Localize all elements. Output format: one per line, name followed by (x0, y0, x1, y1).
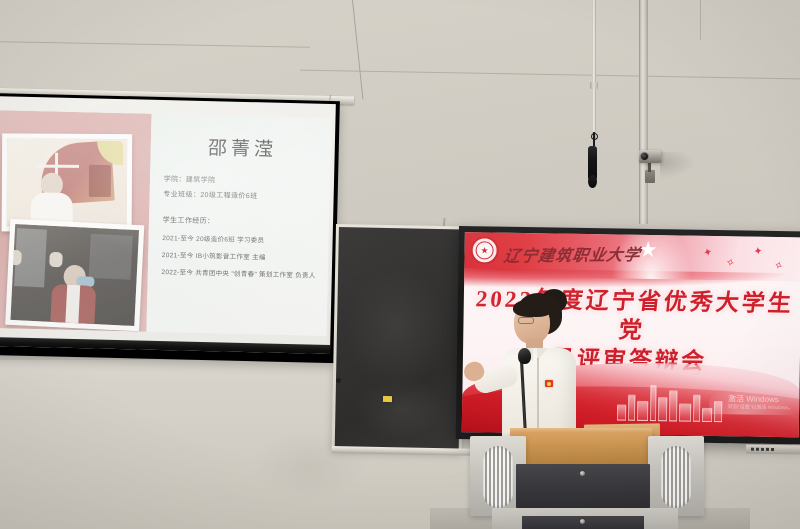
lectern-lock-icon[interactable] (580, 471, 585, 476)
skyline-building (714, 401, 722, 422)
skyline-building (658, 397, 667, 421)
bird-icon-4: ✧ (772, 260, 785, 274)
skyline-building (693, 395, 700, 422)
led-control-button[interactable] (756, 448, 759, 451)
presenter-glasses (518, 317, 534, 324)
ceiling-microphone-icon (588, 146, 597, 182)
slide-experience-item-1: 2021-至今 20级造价6班 学习委员 (162, 232, 319, 246)
led-control-button[interactable] (766, 448, 769, 451)
photo-2-person (50, 264, 97, 324)
skyline-building (669, 390, 677, 421)
party-member-badge-icon (545, 380, 553, 387)
slide-photo-panel (0, 110, 151, 332)
photo-1-bar (37, 165, 79, 168)
blackboard-knob (336, 378, 341, 383)
presenter-fringe (513, 299, 553, 317)
university-name: 辽宁建筑职业大学 (503, 241, 643, 266)
wall-seam-vertical (700, 0, 701, 40)
windows-activation-watermark: 激活 Windows 转到"设置"以激活 Windows。 (728, 394, 793, 411)
blackboard-clip (383, 396, 392, 402)
projector-screen-surface: 邵菁滢 学院：建筑学院 专业班级：20级工程造价6班 学生工作经历： 2021-… (0, 96, 336, 354)
slide-college-field: 学院：建筑学院 (164, 175, 321, 188)
lectern-lock-icon-2[interactable] (580, 519, 585, 524)
speaker-grille-icon (661, 446, 691, 508)
led-control-button[interactable] (761, 448, 764, 451)
lectern (452, 424, 722, 529)
led-control-panel[interactable] (746, 445, 800, 455)
photo-1-person (29, 173, 75, 227)
projector-screen: 邵菁滢 学院：建筑学院 专业班级：20级工程造价6班 学生工作经历： 2021-… (0, 93, 340, 363)
bird-icon-1: ✦ (702, 247, 714, 260)
podium-microphone-icon (518, 348, 531, 364)
skyline-building (650, 385, 657, 421)
bird-icon-2: ✧ (724, 257, 735, 270)
led-skyline-graphic (617, 379, 726, 423)
photo-2-hand-right (49, 252, 63, 268)
slide-experience-item-2: 2021-至今 IB小筑影音工作室 主编 (162, 249, 319, 263)
lectern-wood-top (510, 432, 652, 464)
photo-2-hand-left (8, 250, 22, 266)
camera-shadow (660, 152, 694, 178)
slide-photo-1 (2, 133, 133, 232)
slide-experience-item-3: 2022-至今 共青团中央 "创青春" 策划工作室 负责人 (161, 266, 318, 280)
led-birds-graphic: ✦ ✧ ✦ ✧ (699, 244, 791, 275)
university-emblem-star: ★ (475, 241, 493, 259)
slide-photo-2 (5, 219, 144, 332)
led-control-button[interactable] (751, 448, 754, 451)
photo-1-seal-graphic (89, 165, 111, 197)
skyline-building (628, 395, 635, 421)
projector-screen-weight-bar (0, 337, 330, 354)
speaker-grille-icon (483, 446, 513, 508)
bird-icon-3: ✦ (753, 246, 764, 258)
ceiling-microphone-pole (592, 0, 596, 140)
skyline-building (702, 408, 712, 422)
blackboard (335, 227, 463, 449)
slide-class-field: 专业班级：20级工程造价6班 (163, 190, 320, 203)
led-control-button[interactable] (771, 448, 774, 451)
camera-lens-icon (640, 152, 649, 161)
photo-2-hands (8, 250, 63, 269)
lecture-hall-screenshot: 邵菁滢 学院：建筑学院 专业班级：20级工程造价6班 学生工作经历： 2021-… (0, 0, 800, 529)
lectern-speaker-right (648, 436, 704, 516)
skyline-building (637, 401, 648, 421)
watermark-line-2: 转到"设置"以激活 Windows。 (728, 404, 793, 411)
slide-student-name: 邵菁滢 (164, 132, 321, 163)
presentation-slide: 邵菁滢 学院：建筑学院 专业班级：20级工程造价6班 学生工作经历： 2021-… (0, 110, 332, 336)
chalk-smudge-2 (355, 377, 446, 439)
skyline-building (679, 403, 691, 421)
skyline-building (617, 405, 626, 421)
blackboard-frame (332, 224, 466, 452)
slide-text-panel: 邵菁滢 学院：建筑学院 专业班级：20级工程造价6班 学生工作经历： 2021-… (146, 114, 331, 336)
chalk-smudge-1 (346, 267, 448, 389)
camera-arm (648, 163, 651, 172)
photo-2-person-shirt (65, 285, 80, 326)
ceiling-microphone-joint (590, 82, 598, 89)
wall-pillar-strip (639, 0, 648, 224)
